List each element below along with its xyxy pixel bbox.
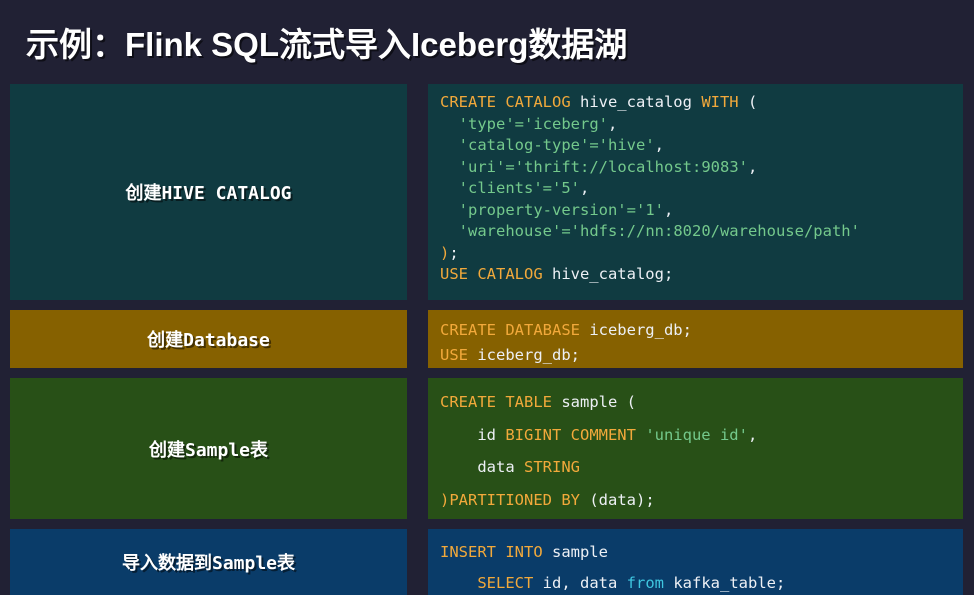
sql-string: 'iceberg': [524, 115, 608, 133]
sql-identifier: hive_catalog;: [552, 265, 673, 283]
sql-keyword: CREATE CATALOG: [440, 93, 580, 111]
sql-keyword: CREATE DATABASE: [440, 321, 589, 339]
sql-identifier: (data);: [589, 491, 654, 509]
code-line: CREATE CATALOG hive_catalog WITH (: [440, 92, 963, 114]
sql-indent: [440, 115, 459, 133]
sql-string: 'type': [459, 115, 515, 133]
code-line: CREATE DATABASE iceberg_db;: [440, 318, 963, 343]
code-line: SELECT id, data from kafka_table;: [440, 568, 963, 595]
sql-indent: [440, 222, 459, 240]
sql-punctuation: ,: [655, 136, 664, 154]
sql-punctuation: ): [440, 244, 449, 262]
sql-punctuation: ,: [580, 179, 589, 197]
sql-indent: [440, 136, 459, 154]
sql-keyword: CREATE TABLE: [440, 393, 561, 411]
sql-identifier: iceberg_db;: [589, 321, 692, 339]
sql-keyword: WITH: [701, 93, 748, 111]
sql-keyword: USE: [440, 346, 477, 364]
code-line: USE iceberg_db;: [440, 343, 963, 368]
sql-identifier: kafka_table;: [673, 574, 785, 592]
sql-string: 'unique id': [645, 426, 748, 444]
sql-keyword: STRING: [524, 458, 580, 476]
sql-keyword-alt: from: [627, 574, 674, 592]
sql-operator: =: [589, 136, 598, 154]
code-line: 'uri'='thrift://localhost:9083',: [440, 157, 963, 179]
sql-string: '1': [636, 201, 664, 219]
sql-string: '5': [552, 179, 580, 197]
sql-identifier: sample: [561, 393, 626, 411]
sql-punctuation: (: [627, 393, 636, 411]
sql-identifier: sample: [552, 543, 608, 561]
code-line: 'catalog-type'='hive',: [440, 135, 963, 157]
table-row: 创建Sample表 CREATE TABLE sample ( id BIGIN…: [0, 378, 974, 519]
sql-string: 'catalog-type': [459, 136, 590, 154]
code-line: 'warehouse'='hdfs://nn:8020/warehouse/pa…: [440, 221, 963, 243]
sql-string: 'property-version': [459, 201, 627, 219]
slide-root: 示例：Flink SQL流式导入Iceberg数据湖 创建HIVE CATALO…: [0, 0, 974, 595]
sql-string: 'hdfs://nn:8020/warehouse/path': [571, 222, 860, 240]
table-row: 创建Database CREATE DATABASE iceberg_db; U…: [0, 310, 974, 368]
sql-identifier: iceberg_db;: [477, 346, 580, 364]
step-label-cell-table[interactable]: 创建Sample表: [10, 378, 407, 519]
code-line: id BIGINT COMMENT 'unique id',: [440, 419, 963, 452]
code-line: 'clients'='5',: [440, 178, 963, 200]
code-line: data STRING: [440, 451, 963, 484]
code-block-catalog[interactable]: CREATE CATALOG hive_catalog WITH ( 'type…: [428, 84, 963, 300]
code-line: USE CATALOG hive_catalog;: [440, 264, 963, 286]
code-line: INSERT INTO sample: [440, 537, 963, 568]
step-label-insert: 导入数据到Sample表: [122, 549, 295, 575]
sql-string: 'warehouse': [459, 222, 562, 240]
sql-indent: [440, 158, 459, 176]
sql-punctuation: ,: [664, 201, 673, 219]
sql-identifier: id: [477, 426, 505, 444]
code-block-insert[interactable]: INSERT INTO sample SELECT id, data from …: [428, 529, 963, 595]
code-line: CREATE TABLE sample (: [440, 386, 963, 419]
sql-punctuation: ,: [608, 115, 617, 133]
sql-indent: [440, 574, 477, 592]
sql-punctuation: ;: [449, 244, 458, 262]
sql-string: 'thrift://localhost:9083': [515, 158, 748, 176]
sql-keyword: BIGINT COMMENT: [505, 426, 645, 444]
sql-operator: =: [515, 115, 524, 133]
step-label-cell-catalog[interactable]: 创建HIVE CATALOG: [10, 84, 407, 300]
code-line: )PARTITIONED BY (data);: [440, 484, 963, 517]
sql-string: 'uri': [459, 158, 506, 176]
sql-indent: [440, 179, 459, 197]
table-row: 导入数据到Sample表 INSERT INTO sample SELECT i…: [0, 529, 974, 595]
sql-indent: [440, 426, 477, 444]
sql-keyword: PARTITIONED BY: [449, 491, 589, 509]
sql-indent: [440, 458, 477, 476]
table-row: 创建HIVE CATALOG CREATE CATALOG hive_catal…: [0, 84, 974, 300]
sql-string: 'hive': [599, 136, 655, 154]
sql-keyword: INSERT INTO: [440, 543, 552, 561]
step-label-table: 创建Sample表: [149, 436, 268, 462]
sql-string: 'clients': [459, 179, 543, 197]
step-label-database: 创建Database: [147, 326, 270, 352]
sql-operator: =: [627, 201, 636, 219]
step-label-catalog: 创建HIVE CATALOG: [125, 179, 291, 205]
code-line: 'type'='iceberg',: [440, 114, 963, 136]
sql-operator: =: [543, 179, 552, 197]
sql-punctuation: (: [748, 93, 757, 111]
code-block-table[interactable]: CREATE TABLE sample ( id BIGINT COMMENT …: [428, 378, 963, 519]
sql-keyword: USE CATALOG: [440, 265, 552, 283]
sql-identifier: data: [477, 458, 524, 476]
sql-punctuation: ): [440, 491, 449, 509]
sql-keyword: SELECT: [477, 574, 542, 592]
step-label-cell-database[interactable]: 创建Database: [10, 310, 407, 368]
sql-identifier: hive_catalog: [580, 93, 701, 111]
sql-operator: =: [561, 222, 570, 240]
sql-punctuation: ,: [748, 426, 757, 444]
code-line: );: [440, 243, 963, 265]
page-title: 示例：Flink SQL流式导入Iceberg数据湖: [26, 24, 627, 66]
code-line: 'property-version'='1',: [440, 200, 963, 222]
code-block-database[interactable]: CREATE DATABASE iceberg_db; USE iceberg_…: [428, 310, 963, 368]
sql-identifier: id, data: [543, 574, 627, 592]
sql-indent: [440, 201, 459, 219]
step-label-cell-insert[interactable]: 导入数据到Sample表: [10, 529, 407, 595]
sql-operator: =: [505, 158, 514, 176]
sql-punctuation: ,: [748, 158, 757, 176]
